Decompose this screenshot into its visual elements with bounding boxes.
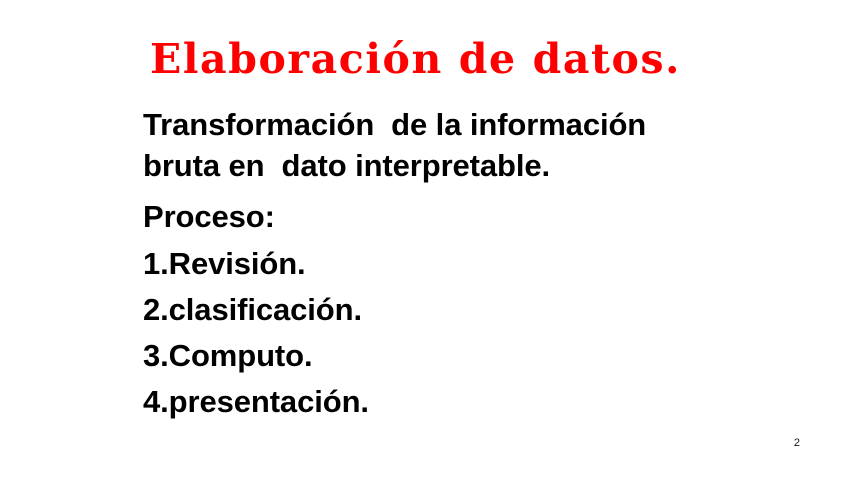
body-line-process-heading: Proceso:: [143, 195, 743, 239]
paragraph-process-steps: 1.Revisión. 2.clasificación. 3.Computo. …: [143, 241, 743, 425]
paragraph-process-heading: Proceso:: [143, 195, 743, 239]
body-line-step-1: 1.Revisión.: [143, 241, 743, 287]
paragraph-intro: Transformación de la información bruta e…: [143, 104, 743, 186]
body-line-step-4: 4.presentación.: [143, 379, 743, 425]
page-title: Elaboración de datos.: [150, 38, 710, 81]
body-line-step-2: 2.clasificación.: [143, 287, 743, 333]
slide-body: Transformación de la información bruta e…: [143, 104, 743, 425]
body-line-intro-2: bruta en dato interpretable.: [143, 145, 743, 186]
body-line-step-3: 3.Computo.: [143, 333, 743, 379]
page-number: 2: [794, 438, 800, 449]
slide-canvas: Elaboración de datos. Transformación de …: [0, 0, 848, 477]
body-line-intro-1: Transformación de la información: [143, 104, 743, 145]
